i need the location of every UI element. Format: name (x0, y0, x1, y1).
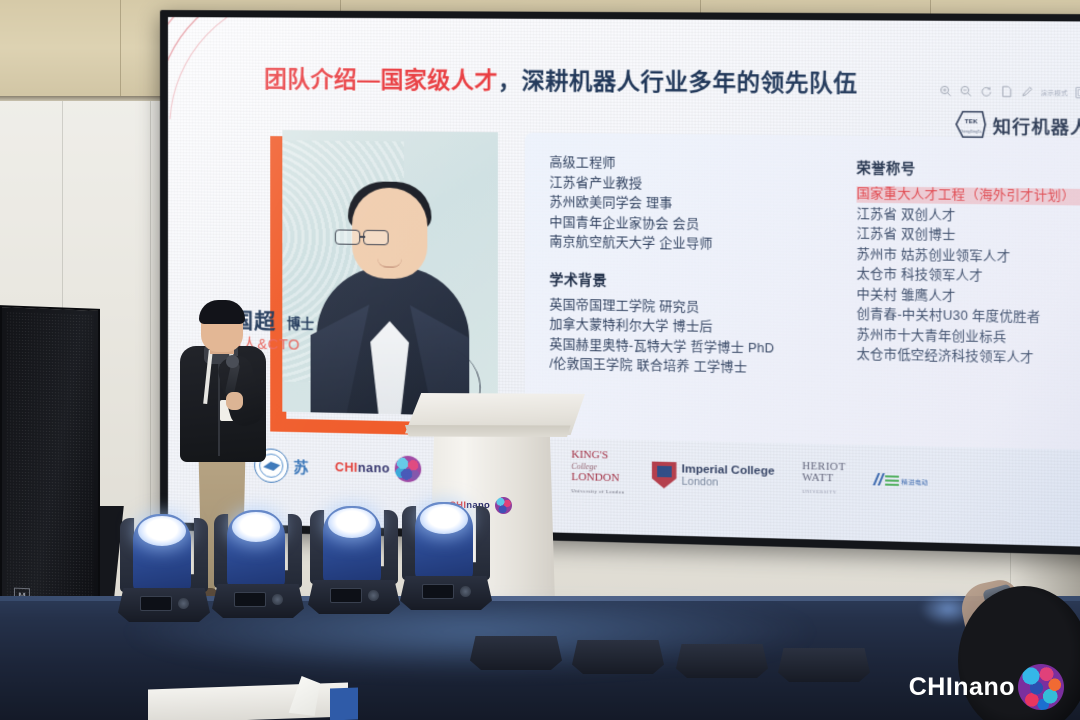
chinano-watermark: CHInano (909, 664, 1064, 710)
light-base (778, 648, 870, 682)
hexagon-tek-icon: TEK ChengXingTa (954, 110, 986, 139)
imperial-wordmark: Imperial College London (682, 463, 775, 491)
chinano-wordmark: CHInano (335, 460, 390, 475)
screen-face: 团队介绍—国家级人才，深耕机器人行业多年的领先队伍 (168, 17, 1080, 547)
svg-text:TEK: TEK (965, 118, 979, 125)
portrait-photo (282, 130, 498, 416)
jingjin-label: 精进电动 (901, 476, 928, 486)
rotate-icon[interactable] (980, 85, 993, 98)
honor-line: 太仓市低空经济科技领军人才 (857, 345, 1080, 370)
moving-head-light (400, 500, 492, 620)
zoom-out-icon[interactable] (959, 85, 972, 98)
watermark-wordmark: CHInano (909, 673, 1015, 702)
chinano-ball-icon (1018, 664, 1064, 710)
light-display-panel (330, 588, 362, 603)
microphone-head-icon (226, 355, 239, 368)
light-base (676, 644, 768, 678)
speaker-grille (6, 311, 94, 614)
portrait-glasses-left (335, 229, 360, 244)
jingjin-mark-icon: // (873, 470, 883, 491)
credential-line: 高级工程师 (549, 153, 852, 176)
pdf-toolbar-label: 演示模式 (1041, 87, 1068, 97)
hw-line2: WATT (802, 472, 834, 484)
slide-title-rest: ，深耕机器人行业多年的领先队伍 (498, 68, 858, 96)
imperial-line2: London (682, 476, 775, 491)
info-column-left: 高级工程师 江苏省产业教授 苏州欧美同学会 理事 中国青年企业家协会 会员 南京… (549, 153, 852, 380)
company-name: 知行机器人 (993, 112, 1080, 139)
light-lens (232, 512, 280, 542)
led-screen: 团队介绍—国家级人才，深耕机器人行业多年的领先队伍 (160, 10, 1080, 556)
moving-head-light (212, 508, 304, 628)
light-display-panel (234, 592, 266, 607)
light-display-panel (422, 584, 454, 599)
presenter-hair (199, 300, 245, 324)
light-base (470, 636, 562, 670)
presentation-slide: 团队介绍—国家级人才，深耕机器人行业多年的领先队伍 (168, 17, 1080, 547)
portrait-glasses-bridge (360, 236, 365, 238)
honors-header: 荣誉称号 (857, 156, 1080, 179)
pa-loudspeaker: M (0, 305, 100, 621)
honor-line: 江苏省 双创博士 (857, 224, 1080, 248)
page-fit-icon[interactable] (1000, 85, 1013, 98)
company-logo: TEK ChengXingTa 知行机器人 (954, 110, 1080, 140)
moving-head-light (118, 512, 210, 632)
jingjin-bars-icon (885, 475, 899, 486)
light-lens (420, 504, 468, 534)
portrait-glasses-right (363, 230, 388, 246)
fullscreen-icon[interactable] (1075, 86, 1080, 98)
moving-head-light (308, 504, 400, 624)
venue-scene: 团队介绍—国家级人才，深耕机器人行业多年的领先队伍 (0, 0, 1080, 720)
imperial-college-london-logo: Imperial College London (651, 462, 774, 492)
foreground-table-side (330, 688, 358, 720)
honor-line-highlighted: 国家重大人才工程（海外引才计划） (857, 184, 1080, 207)
hw-line3: UNIVERSITY (802, 485, 846, 497)
light-knob (460, 586, 471, 597)
university-seal-char: 苏 (293, 456, 308, 477)
light-lens (138, 516, 186, 546)
info-panel: 高级工程师 江苏省产业教授 苏州欧美同学会 理事 中国青年企业家协会 会员 南京… (525, 133, 1080, 451)
light-display-panel (140, 596, 172, 611)
imperial-crest-icon (651, 462, 676, 489)
svg-text:ChengXingTa: ChengXingTa (959, 129, 981, 133)
light-base (572, 640, 664, 674)
pen-icon[interactable] (1020, 85, 1033, 98)
presenter-hand (226, 392, 243, 410)
slide-title-red: 团队介绍—国家级人才 (264, 67, 498, 94)
portrait-card (270, 130, 499, 437)
chinano-ball-icon (495, 497, 512, 514)
pdf-viewer-toolbar[interactable]: 演示模式 (939, 85, 1080, 99)
slide-title: 团队介绍—国家级人才，深耕机器人行业多年的领先队伍 (264, 62, 857, 99)
heriot-watt-wordmark: HERIOT WATT UNIVERSITY (802, 460, 846, 497)
jingjin-logo: // 精进电动 (873, 470, 928, 492)
info-column-right: 荣誉称号 国家重大人才工程（海外引才计划） 江苏省 双创人才 江苏省 双创博士 … (857, 156, 1080, 369)
zoom-in-icon[interactable] (939, 85, 952, 98)
heriot-watt-university-logo: HERIOT WATT UNIVERSITY (802, 460, 846, 497)
light-knob (178, 598, 189, 609)
person-degree: 博士 (287, 316, 314, 332)
light-lens (328, 508, 376, 538)
portrait-mic-boom (435, 347, 487, 399)
light-knob (368, 590, 379, 601)
light-knob (272, 594, 283, 605)
academic-header: 学术背景 (549, 267, 852, 292)
